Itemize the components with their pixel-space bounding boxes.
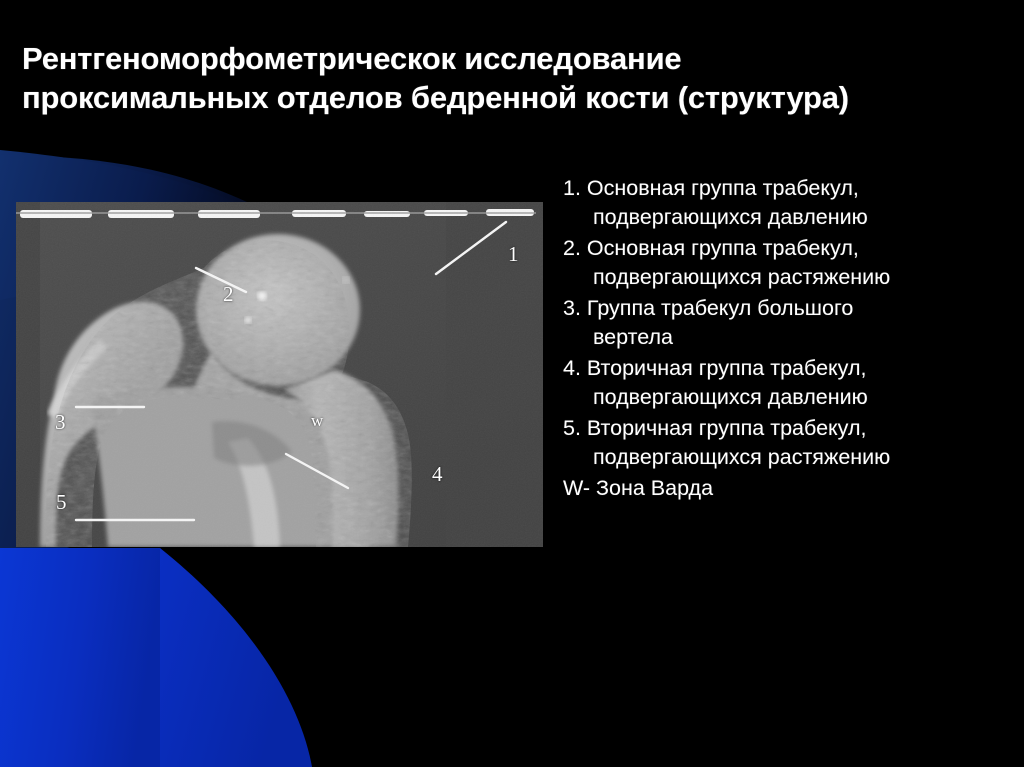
xray-graphic bbox=[16, 202, 543, 547]
xray-label-4: 4 bbox=[432, 464, 443, 485]
legend-item-5: 5. Вторичная группа трабекул, подвергающ… bbox=[563, 414, 1018, 472]
xray-label-5: 5 bbox=[56, 492, 67, 513]
page-title: Рентгеноморфометрическок исследование пр… bbox=[22, 39, 922, 117]
legend-item-1: 1. Основная группа трабекул, подвергающи… bbox=[563, 174, 1018, 232]
xray-label-w: w bbox=[311, 410, 323, 431]
slide-canvas: Рентгеноморфометрическок исследование пр… bbox=[0, 0, 1024, 767]
legend-item-3: 3. Группа трабекул большого вертела bbox=[563, 294, 1018, 352]
xray-label-1: 1 bbox=[508, 244, 519, 265]
legend-item-2: 2. Основная группа трабекул, подвергающи… bbox=[563, 234, 1018, 292]
xray-image: 1 2 3 4 5 w bbox=[16, 202, 543, 547]
xray-label-2: 2 bbox=[223, 284, 234, 305]
legend-item-4: 4. Вторичная группа трабекул, подвергающ… bbox=[563, 354, 1018, 412]
legend-list: 1. Основная группа трабекул, подвергающи… bbox=[563, 174, 1018, 505]
legend-note-ward: W- Зона Варда bbox=[563, 474, 1018, 503]
xray-label-3: 3 bbox=[55, 412, 66, 433]
